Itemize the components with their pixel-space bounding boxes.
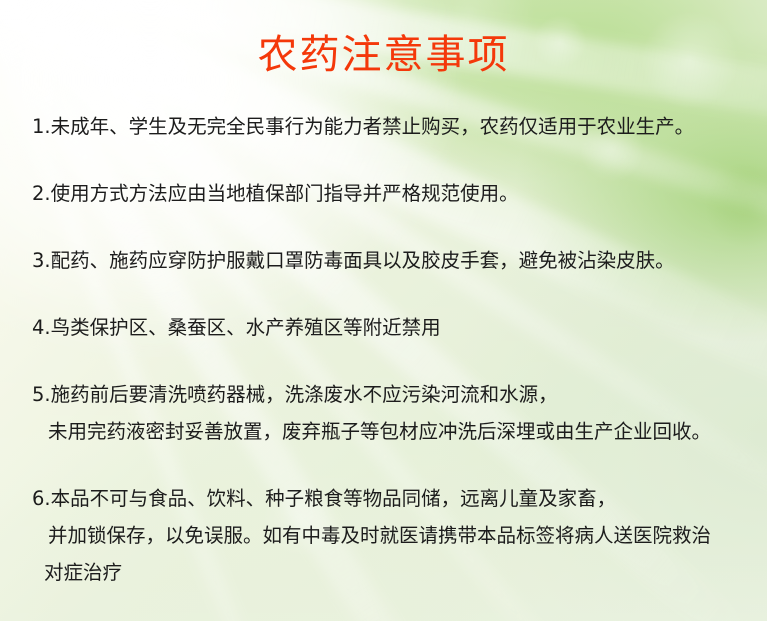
notice-line: 1.未成年、学生及无完全民事行为能力者禁止购买，农药仅适用于农业生产。: [32, 108, 752, 145]
notice-item-6: 6.本品不可与食品、饮料、种子粮食等物品同储，远离儿童及家畜， 并加锁保存，以免…: [32, 480, 752, 591]
pesticide-notice-poster: 农药注意事项 1.未成年、学生及无完全民事行为能力者禁止购买，农药仅适用于农业生…: [0, 0, 767, 621]
notice-line: 6.本品不可与食品、饮料、种子粮食等物品同储，远离儿童及家畜，: [32, 480, 752, 517]
notice-line: 并加锁保存，以免误服。如有中毒及时就医请携带本品标签将病人送医院救治: [32, 517, 752, 554]
notice-line: 3.配药、施药应穿防护服戴口罩防毒面具以及胶皮手套，避免被沾染皮肤。: [32, 242, 752, 279]
notice-item-1: 1.未成年、学生及无完全民事行为能力者禁止购买，农药仅适用于农业生产。: [32, 108, 752, 145]
notice-item-3: 3.配药、施药应穿防护服戴口罩防毒面具以及胶皮手套，避免被沾染皮肤。: [32, 242, 752, 279]
notice-line: 对症治疗: [32, 554, 752, 591]
notice-item-4: 4.鸟类保护区、桑蚕区、水产养殖区等附近禁用: [32, 309, 752, 346]
notice-item-2: 2.使用方式方法应由当地植保部门指导并严格规范使用。: [32, 175, 752, 212]
notice-line: 未用完药液密封妥善放置，废弃瓶子等包材应冲洗后深埋或由生产企业回收。: [32, 413, 752, 450]
notice-item-5: 5.施药前后要清洗喷药器械，洗涤废水不应污染河流和水源， 未用完药液密封妥善放置…: [32, 376, 752, 450]
poster-content: 农药注意事项 1.未成年、学生及无完全民事行为能力者禁止购买，农药仅适用于农业生…: [0, 0, 767, 621]
page-title: 农药注意事项: [0, 32, 767, 78]
notice-line: 5.施药前后要清洗喷药器械，洗涤废水不应污染河流和水源，: [32, 376, 752, 413]
notice-line: 4.鸟类保护区、桑蚕区、水产养殖区等附近禁用: [32, 309, 752, 346]
notice-list: 1.未成年、学生及无完全民事行为能力者禁止购买，农药仅适用于农业生产。 2.使用…: [32, 108, 752, 621]
notice-line: 2.使用方式方法应由当地植保部门指导并严格规范使用。: [32, 175, 752, 212]
